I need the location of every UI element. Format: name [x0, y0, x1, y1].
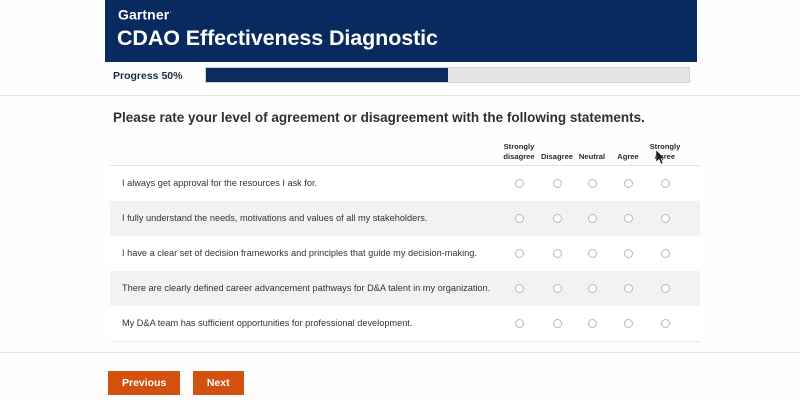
progress-track [205, 67, 690, 83]
matrix-radio-option[interactable] [624, 249, 633, 258]
matrix-radio-option[interactable] [588, 284, 597, 293]
progress-row: Progress 50% [105, 62, 697, 90]
matrix-radio-option[interactable] [624, 284, 633, 293]
matrix-radio-option[interactable] [588, 179, 597, 188]
matrix-radio-option[interactable] [661, 249, 670, 258]
matrix-column-header: Stronglyagree [642, 142, 688, 161]
matrix-radio-option[interactable] [515, 179, 524, 188]
matrix-radio-option[interactable] [588, 319, 597, 328]
progress-label: Progress 50% [113, 70, 182, 82]
survey-page: Gartner· CDAO Effectiveness Diagnostic P… [0, 0, 800, 400]
matrix-row: My D&A team has sufficient opportunities… [110, 306, 700, 341]
matrix-radio-option[interactable] [553, 284, 562, 293]
matrix-radio-option[interactable] [624, 319, 633, 328]
rating-matrix: StronglydisagreeDisagreeNeutralAgreeStro… [110, 133, 700, 342]
matrix-row: I have a clear set of decision framework… [110, 236, 700, 271]
progress-fill [206, 68, 448, 82]
gartner-logo: Gartner· [118, 5, 172, 23]
matrix-radio-option[interactable] [515, 319, 524, 328]
header-divider [0, 95, 800, 96]
matrix-radio-option[interactable] [661, 284, 670, 293]
matrix-statement: My D&A team has sufficient opportunities… [122, 306, 412, 341]
matrix-row: There are clearly defined career advance… [110, 271, 700, 306]
matrix-body: I always get approval for the resources … [110, 166, 700, 342]
registered-mark-icon: · [169, 9, 171, 16]
matrix-radio-option[interactable] [661, 214, 670, 223]
page-title: CDAO Effectiveness Diagnostic [117, 26, 438, 51]
matrix-row: I fully understand the needs, motivation… [110, 201, 700, 236]
matrix-radio-option[interactable] [553, 179, 562, 188]
footer-divider [0, 352, 800, 353]
matrix-radio-option[interactable] [553, 319, 562, 328]
matrix-row: I always get approval for the resources … [110, 166, 700, 201]
matrix-statement: I have a clear set of decision framework… [122, 236, 477, 271]
next-button[interactable]: Next [193, 371, 244, 395]
matrix-radio-option[interactable] [661, 319, 670, 328]
matrix-radio-option[interactable] [553, 249, 562, 258]
matrix-statement: I always get approval for the resources … [122, 166, 317, 201]
matrix-radio-option[interactable] [588, 249, 597, 258]
matrix-radio-option[interactable] [515, 284, 524, 293]
matrix-radio-option[interactable] [661, 179, 670, 188]
gartner-logo-text: Gartner [118, 7, 169, 23]
previous-button[interactable]: Previous [108, 371, 180, 395]
navigation-buttons: Previous Next [108, 371, 252, 395]
matrix-column-headers: StronglydisagreeDisagreeNeutralAgreeStro… [110, 133, 700, 166]
matrix-radio-option[interactable] [515, 249, 524, 258]
page-header-banner: Gartner· CDAO Effectiveness Diagnostic [105, 0, 697, 62]
matrix-radio-option[interactable] [553, 214, 562, 223]
matrix-radio-option[interactable] [624, 179, 633, 188]
matrix-radio-option[interactable] [588, 214, 597, 223]
question-prompt: Please rate your level of agreement or d… [113, 110, 645, 125]
matrix-radio-option[interactable] [624, 214, 633, 223]
matrix-statement: There are clearly defined career advance… [122, 271, 490, 306]
matrix-radio-option[interactable] [515, 214, 524, 223]
matrix-statement: I fully understand the needs, motivation… [122, 201, 427, 236]
